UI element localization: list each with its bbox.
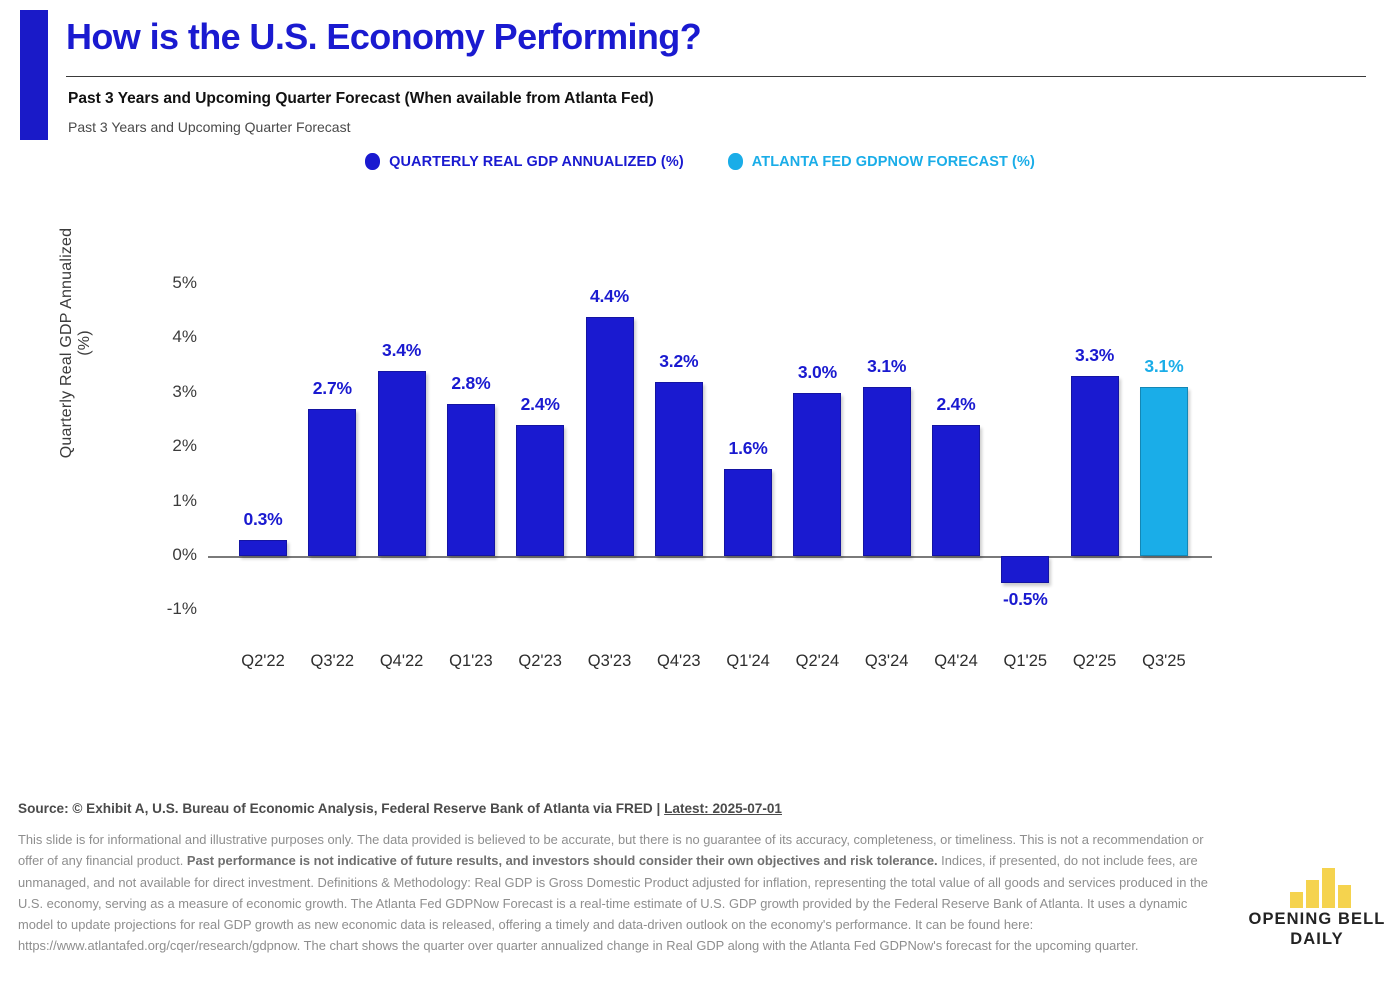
bar-q324[interactable] bbox=[863, 387, 911, 556]
y-axis-tick: 4% bbox=[137, 327, 197, 347]
bar-value-label: 2.8% bbox=[425, 373, 517, 394]
bar-value-label: 4.4% bbox=[564, 286, 656, 307]
source-line: Source: © Exhibit A, U.S. Bureau of Econ… bbox=[18, 801, 782, 816]
y-axis-label: Quarterly Real GDP Annualized (%) bbox=[58, 213, 94, 473]
slide-root: How is the U.S. Economy Performing? Past… bbox=[0, 0, 1400, 990]
logo-line-2: DAILY bbox=[1244, 930, 1390, 949]
source-text: Source: © Exhibit A, U.S. Bureau of Econ… bbox=[18, 801, 664, 816]
x-axis-tick: Q3'25 bbox=[1118, 652, 1210, 671]
logo-line-1: OPENING BELL bbox=[1244, 910, 1390, 929]
source-latest: Latest: 2025-07-01 bbox=[664, 801, 782, 816]
y-axis-tick: 3% bbox=[137, 382, 197, 402]
bar-q123[interactable] bbox=[447, 404, 495, 556]
bar-value-label: 2.4% bbox=[494, 394, 586, 415]
bar-value-label: 3.1% bbox=[1118, 356, 1210, 377]
logo-bar-icon bbox=[1338, 885, 1351, 908]
bar-q323[interactable] bbox=[586, 317, 634, 556]
logo-bar-icon bbox=[1322, 868, 1335, 908]
disclaimer-bold: Past performance is not indicative of fu… bbox=[187, 853, 938, 868]
bar-value-label: -0.5% bbox=[979, 589, 1071, 610]
bar-q423[interactable] bbox=[655, 382, 703, 556]
bar-value-label: 2.7% bbox=[286, 378, 378, 399]
bar-q222[interactable] bbox=[239, 540, 287, 556]
disclaimer-part-2: Indices, if presented, do not include fe… bbox=[18, 853, 1208, 953]
zero-axis-line bbox=[208, 556, 1212, 558]
bar-q223[interactable] bbox=[516, 425, 564, 556]
bar-value-label: 3.1% bbox=[841, 356, 933, 377]
bar-value-label: 3.2% bbox=[633, 351, 725, 372]
logo-bar-icon bbox=[1306, 880, 1319, 908]
bar-value-label: 3.4% bbox=[356, 340, 448, 361]
bar-value-label: 0.3% bbox=[217, 509, 309, 530]
bar-q225[interactable] bbox=[1071, 376, 1119, 556]
bar-value-label: 1.6% bbox=[702, 438, 794, 459]
y-axis-tick: -1% bbox=[137, 599, 197, 619]
opening-bell-daily-logo: OPENING BELL DAILY bbox=[1244, 866, 1390, 950]
y-axis-tick: 0% bbox=[137, 545, 197, 565]
bar-q125[interactable] bbox=[1001, 556, 1049, 583]
bar-value-label: 2.4% bbox=[910, 394, 1002, 415]
bar-q124[interactable] bbox=[724, 469, 772, 556]
bar-q322[interactable] bbox=[308, 409, 356, 556]
logo-bar-icon bbox=[1290, 892, 1303, 908]
bar-q224[interactable] bbox=[793, 393, 841, 556]
bar-q424[interactable] bbox=[932, 425, 980, 556]
bar-q422[interactable] bbox=[378, 371, 426, 556]
y-axis-tick: 5% bbox=[137, 273, 197, 293]
y-axis-tick: 1% bbox=[137, 491, 197, 511]
y-axis-tick: 2% bbox=[137, 436, 197, 456]
logo-bars-icon bbox=[1244, 866, 1390, 908]
disclaimer-text: This slide is for informational and illu… bbox=[18, 829, 1213, 957]
bar-q325[interactable] bbox=[1140, 387, 1188, 556]
